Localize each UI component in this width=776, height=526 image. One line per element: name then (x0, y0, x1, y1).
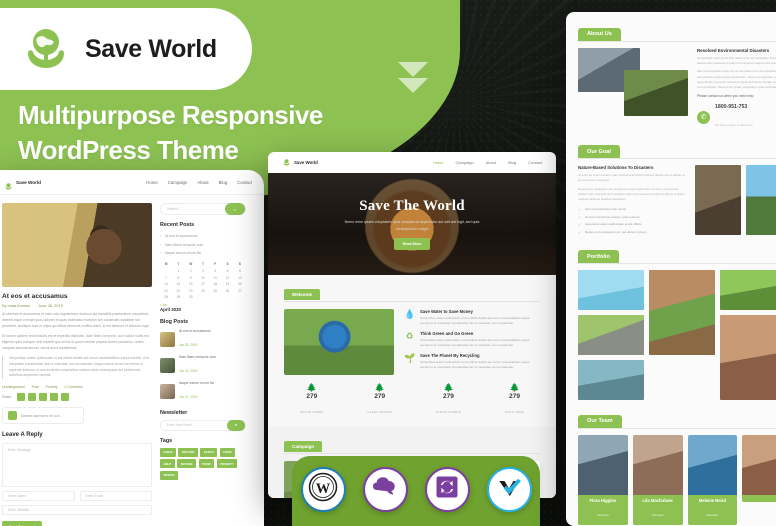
calendar-cell[interactable]: 20 (234, 281, 246, 288)
chevron-down-icon (398, 78, 428, 93)
portfolio-item-girl-behind-fence[interactable] (578, 360, 644, 400)
calendar-cell[interactable]: 1 (172, 268, 184, 275)
counter-value: 279 (367, 393, 392, 400)
home-logo: Save World (282, 154, 318, 172)
menu-item-blog[interactable]: Blog (508, 160, 516, 165)
team-member-photo (578, 435, 628, 495)
inner-pages-mockup: About Us Resolved Environmental Disaster… (566, 12, 776, 526)
blog-page-mockup: Save World Home Campaign About Blog Cont… (0, 170, 264, 526)
our-goal-section: Our Goal Nature-Based Solutions To Disas… (578, 140, 776, 236)
about-image-group (578, 48, 690, 116)
counter-label: CLEAN POWER (436, 410, 461, 414)
about-title: Resolved Environmental Disasters (697, 48, 776, 53)
counter-item: 🌲 279 SOLAR PANEL (300, 383, 324, 418)
feature-text: Temporibus autem quibusdam et aut offici… (420, 338, 540, 349)
pinterest-icon[interactable] (50, 393, 58, 401)
calendar-week: 7 8 9 10 11 12 13 (160, 274, 246, 281)
elementor-badge[interactable] (363, 467, 408, 512)
calendar-day-head: M (160, 261, 172, 268)
post-date: Jun 21, 2019 (179, 395, 197, 399)
recycle-icon: ♻ (404, 331, 415, 342)
checklist-item: Sed ut perspiciatis unde omnis (578, 205, 688, 213)
tag-chip[interactable]: CHILD (160, 448, 176, 457)
counter-strip: 🌲 279 SOLAR PANEL 🌲 279 CLEAN WATER 🌲 27… (268, 375, 556, 427)
linkedin-icon[interactable] (61, 393, 69, 401)
recent-post-item[interactable]: Nam libero tempore cum (160, 240, 246, 248)
divider (578, 428, 776, 429)
promo-banner: Save World Multipurpose Responsive WordP… (0, 0, 776, 526)
post-title: Itaque earum rerum hic (179, 381, 214, 385)
tag-chip[interactable]: NATURE (177, 459, 196, 468)
share-row: Share: (2, 393, 152, 401)
wpbakery-badge[interactable] (487, 467, 532, 512)
calendar-cell[interactable]: 2 (185, 268, 197, 275)
calendar-week: 1 2 3 4 5 6 (160, 268, 246, 275)
blog-sidebar: Search... ⌕ Recent Posts At eos et accus… (160, 203, 246, 526)
wpbakery-check-icon (494, 472, 524, 507)
previous-post-link[interactable]: Maxime asperiores vel sunt (2, 407, 84, 424)
calendar-cell[interactable]: 16 (185, 281, 197, 288)
calendar-cell[interactable]: 8 (172, 274, 184, 281)
water-drop-icon: 💧 (404, 309, 415, 320)
headline-line-1: Multipurpose Responsive (18, 98, 323, 133)
welcome-section: Welcome 💧 Save Water to Save Money Tempo… (268, 275, 556, 375)
tag-cloud: CHILD DOCTOR EARTH FOOD HELP NATURE POOR… (160, 448, 246, 480)
portfolio-item-hands-with-seedling[interactable] (649, 270, 715, 355)
counter-item: 🌲 279 CLEAN POWER (436, 383, 461, 418)
tag-post[interactable]: Post (32, 385, 39, 389)
article-author: By mata.themes (2, 303, 30, 308)
menu-item-about[interactable]: About (197, 180, 208, 185)
search-box[interactable]: Search... ⌕ (160, 203, 246, 215)
portfolio-grid (578, 270, 776, 400)
calendar-cell[interactable]: 25 (209, 288, 221, 295)
post-title: Nam libero tempore cum (179, 355, 216, 359)
tag-chip[interactable]: DOCTOR (178, 448, 197, 457)
calendar-cell[interactable] (160, 268, 172, 275)
newsletter-form[interactable]: Enter Your Email ➤ (160, 420, 246, 431)
blog-logo-text: Save World (16, 180, 41, 185)
tree-icon: 🌲 (505, 383, 524, 393)
team-member-card[interactable]: Flora Higgins Volunteer (578, 435, 628, 525)
goal-image-group (695, 165, 776, 235)
facebook-icon[interactable] (28, 393, 36, 401)
team-member-photo (742, 435, 776, 495)
calendar-cell[interactable]: 27 (234, 288, 246, 295)
revolution-slider-badge[interactable] (425, 467, 470, 512)
counter-value: 279 (436, 393, 461, 400)
goal-paragraph-1: Ut enim ad minim veniam, quis nostrud ex… (578, 173, 688, 183)
calendar-cell (234, 294, 246, 301)
post-comment-button[interactable]: Post Comment (2, 521, 42, 526)
blockquote-text: Temporibus autem quibusdam et aut offici… (9, 356, 152, 380)
tag-poverty[interactable]: Poverty (46, 385, 58, 389)
feature-item: 💧 Save Water to Save Money Temporibus au… (404, 309, 540, 326)
wordpress-badge[interactable]: W (301, 467, 346, 512)
tag-chip[interactable]: EARTH (200, 448, 217, 457)
calendar-day-head: W (185, 261, 197, 268)
globe-in-hands-icon (282, 154, 291, 172)
comment-message-field[interactable]: Enter Message (2, 443, 152, 487)
blog-logo: Save World (4, 178, 41, 187)
about-contact-label: Please contact us when you need help (697, 94, 776, 100)
divider (284, 453, 540, 454)
phone-call-icon: ✆ (697, 111, 710, 124)
calendar-cell[interactable]: 5 (221, 268, 233, 275)
calendar-cell[interactable]: 13 (234, 274, 246, 281)
post-title: At eos et accusamus (179, 329, 210, 333)
tag-chip[interactable]: POOR (199, 459, 215, 468)
calendar-week: 21 22 23 24 25 26 27 (160, 288, 246, 295)
calendar-cell[interactable]: 3 (197, 268, 209, 275)
calendar-cell[interactable]: 24 (197, 288, 209, 295)
calendar-cell[interactable]: 22 (172, 288, 184, 295)
hero-subtitle: Nemo enim ipsam voluptatem quia voluptas… (337, 219, 487, 231)
our-team-badge: Our Team (578, 415, 622, 428)
comment-name-field[interactable]: Enter Name (2, 491, 75, 501)
article-featured-image (2, 203, 152, 287)
calendar-cell[interactable]: 29 (172, 294, 184, 301)
feature-item: 🌱 Save The Planet By Recycling Temporibu… (404, 353, 540, 370)
brand-logo-pill: Save World (0, 8, 252, 90)
article-blockquote: Temporibus autem quibusdam et aut offici… (2, 356, 152, 380)
elementor-cloud-icon (370, 472, 400, 507)
calendar-cell[interactable]: 15 (172, 281, 184, 288)
team-member-card[interactable]: Lila Macfarlane Volunteer (633, 435, 683, 525)
welcome-image (284, 309, 394, 375)
calendar-cell[interactable]: 23 (185, 288, 197, 295)
calendar-cell[interactable]: 21 (160, 288, 172, 295)
calendar-cell[interactable]: 14 (160, 281, 172, 288)
plugin-badge-bar: W (292, 456, 540, 526)
share-label: Share: (2, 395, 12, 399)
tree-icon: 🌲 (367, 383, 392, 393)
recent-post-item[interactable]: At eos et accusamus (160, 232, 246, 240)
menu-item-home[interactable]: Home (433, 160, 444, 165)
previous-post-title: Maxime asperiores vel sunt (21, 414, 60, 418)
svg-text:W: W (316, 481, 331, 497)
globe-in-hands-icon (18, 21, 74, 77)
counter-item: 🌲 279 SAVE TREE (505, 383, 524, 418)
calendar-month: April 2020 (160, 307, 246, 312)
article-tags: Uncategorized Post Poverty 0 Comment (2, 385, 152, 389)
counter-label: SOLAR PANEL (300, 410, 324, 414)
team-member-name: Lila Macfarlane (633, 498, 683, 503)
post-thumbnail (160, 358, 175, 373)
welcome-badge: Welcome (284, 289, 320, 300)
about-paragraph-1: Perspiciatis unde omnis iste natus error… (697, 56, 776, 67)
calendar-cell[interactable]: 11 (209, 274, 221, 281)
divider (578, 41, 776, 42)
contact-block[interactable]: ✆ 1800-951-753 We will be happy to assis… (697, 104, 776, 131)
goal-image-solar-panel (746, 165, 776, 235)
calendar-day-head: F (209, 261, 221, 268)
newsletter-heading: Newsletter (160, 410, 246, 416)
calendar-day-head: S (234, 261, 246, 268)
team-member-name: Flora Higgins (578, 498, 628, 503)
menu-item-home[interactable]: Home (146, 180, 157, 185)
calendar-week: 14 15 16 17 18 19 20 (160, 281, 246, 288)
tag-chip[interactable]: FOOD (220, 448, 235, 457)
calendar-cell[interactable]: 18 (209, 281, 221, 288)
goal-paragraph-2: Neque porro quisquam est, qui dolorem ip… (578, 187, 688, 203)
revolution-slider-icon (433, 473, 461, 506)
tag-chip[interactable]: WORLD (160, 471, 178, 480)
comment-website-field[interactable]: Enter Website (2, 505, 152, 515)
checklist-item: Asperiores autem quibusdam et aut offici… (578, 221, 688, 229)
counter-item: 🌲 279 CLEAN WATER (367, 383, 392, 418)
hero-title: Save The World (359, 198, 465, 215)
home-logo-text: Save World (294, 160, 318, 165)
team-member-card[interactable] (742, 435, 776, 525)
article-paragraph-2: Et harum quidem rerum facilis est et exp… (2, 334, 152, 352)
checklist-item: Neque porro quisquam est, qui dolorem ip… (578, 228, 688, 236)
calendar-cell (221, 294, 233, 301)
blog-article: At eos et accusamus By mata.themes June … (2, 203, 152, 526)
blog-posts-heading: Blog Posts (160, 319, 246, 325)
chevron-down-icon (398, 62, 428, 77)
tags-heading: Tags (160, 438, 246, 444)
menu-item-campaign[interactable]: Campaign (168, 180, 188, 185)
home-nav: Save World Home Campaign About Blog Cont… (268, 152, 556, 173)
blog-nav: Save World Home Campaign About Blog Cont… (0, 170, 264, 195)
chevron-left-icon (8, 411, 17, 420)
tree-icon: 🌲 (436, 383, 461, 393)
calendar-cell[interactable]: 28 (160, 294, 172, 301)
team-member-name: Melanie Baird (688, 498, 738, 503)
counter-value: 279 (300, 393, 324, 400)
list-item[interactable]: At eos et accusamus Jun 26, 2019 (160, 329, 246, 351)
our-team-section: Our Team Flora Higgins Volunteer Lila Ma… (578, 409, 776, 525)
calendar-cell (197, 294, 209, 301)
feature-text: Temporibus autem quibusdam et aut offici… (420, 316, 540, 327)
article-title: At eos et accusamus (2, 293, 152, 300)
article-meta: By mata.themes June 26, 2019 (2, 303, 152, 308)
leave-reply-heading: Leave A Reply (2, 432, 152, 438)
calendar-day-head: T (172, 261, 184, 268)
article-date: June 26, 2019 (38, 303, 63, 308)
feature-item: ♻ Think Green and Go Green Temporibus au… (404, 331, 540, 348)
wordpress-icon: W (308, 472, 338, 507)
campaign-badge: Campaign (284, 441, 322, 452)
team-member-role: Volunteer (652, 513, 664, 517)
contact-phone: 1800-951-753 (715, 104, 752, 110)
tree-icon: 🌲 (300, 383, 324, 393)
comment-count: 0 Comment (64, 385, 82, 389)
menu-item-about[interactable]: About (486, 160, 496, 165)
team-grid: Flora Higgins Volunteer Lila Macfarlane … (578, 435, 776, 525)
globe-in-hands-icon (4, 178, 13, 187)
menu-item-blog[interactable]: Blog (219, 180, 228, 185)
portfolio-badge: Portfolio (578, 250, 619, 263)
calendar-day-head: S (221, 261, 233, 268)
blog-menu[interactable]: Home Campaign About Blog Contact (146, 180, 252, 185)
arrow-icon[interactable] (17, 393, 25, 401)
calendar-cell[interactable]: 30 (185, 294, 197, 301)
tag-chip[interactable]: POVERTY (217, 459, 238, 468)
about-us-badge: About Us (578, 28, 621, 41)
portfolio-item-children-group[interactable] (720, 315, 776, 400)
menu-item-campaign[interactable]: Campaign (456, 160, 474, 165)
menu-item-contact[interactable]: Contact (528, 160, 542, 165)
portfolio-section: Portfolio (578, 245, 776, 401)
double-chevron-down-icon (398, 62, 428, 93)
recent-post-item[interactable]: Itaque earum rerum hic (160, 249, 246, 257)
comment-email-field[interactable]: Enter Email (80, 491, 153, 501)
tag-uncategorized[interactable]: Uncategorized (2, 385, 25, 389)
newsletter-email-input[interactable]: Enter Your Email (167, 423, 192, 427)
about-paragraph-2: Sed ut perspiciatis unde omnis iste natu… (697, 69, 776, 91)
send-icon[interactable]: ➤ (227, 420, 245, 431)
calendar-cell (209, 294, 221, 301)
about-image-earth-letters (624, 70, 688, 116)
post-date: Jun 24, 2019 (179, 369, 197, 373)
portfolio-item-water-globe-tap[interactable] (578, 270, 644, 310)
portfolio-item-tree-half-dead-city[interactable] (578, 315, 644, 355)
calendar-cell[interactable]: 12 (221, 274, 233, 281)
feature-title: Save The Planet By Recycling (420, 353, 540, 358)
feature-title: Think Green and Go Green (420, 331, 540, 336)
search-icon[interactable]: ⌕ (225, 203, 245, 215)
checklist-item: Ut enim ad minima veniam, quis nostrum (578, 213, 688, 221)
plant-icon: 🌱 (404, 353, 415, 364)
team-member-photo (688, 435, 738, 495)
calendar-cell[interactable]: 4 (209, 268, 221, 275)
counter-label: CLEAN WATER (367, 410, 392, 414)
calendar-week: 28 29 30 (160, 294, 246, 301)
post-thumbnail (160, 384, 175, 399)
our-goal-badge: Our Goal (578, 145, 620, 158)
home-page-mockup: Save World Home Campaign About Blog Cont… (268, 152, 556, 498)
calendar-day-head: T (197, 261, 209, 268)
google-icon[interactable] (39, 393, 47, 401)
recent-posts-heading: Recent Posts (160, 222, 246, 228)
divider (578, 158, 776, 159)
counter-value: 279 (505, 393, 524, 400)
counter-label: SAVE TREE (505, 410, 524, 414)
portfolio-item-globe-in-grass[interactable] (720, 270, 776, 310)
list-item[interactable]: Itaque earum rerum hic Jun 21, 2019 (160, 381, 246, 403)
team-member-role: Volunteer (706, 513, 718, 517)
goal-title: Nature-Based Solutions To Disasters (578, 165, 688, 170)
contact-phone-sub: We will be happy to assist you (715, 123, 752, 127)
article-paragraph-1: At sincinas et accusamus et iusto odio d… (2, 312, 152, 330)
post-date: Jun 26, 2019 (179, 343, 197, 347)
calendar-cell[interactable]: 6 (234, 268, 246, 275)
calendar-cell[interactable]: 26 (221, 288, 233, 295)
feature-title: Save Water to Save Money (420, 309, 540, 314)
goal-checklist: Sed ut perspiciatis unde omnis Ut enim a… (578, 205, 688, 235)
post-thumbnail (160, 332, 175, 347)
tag-chip[interactable]: HELP (160, 459, 175, 468)
list-item[interactable]: Nam libero tempore cum Jun 24, 2019 (160, 355, 246, 377)
hero-banner: Save The World Nemo enim ipsam voluptate… (268, 173, 556, 275)
team-member-card[interactable]: Melanie Baird Volunteer (688, 435, 738, 525)
calendar-cell[interactable]: 19 (221, 281, 233, 288)
divider (578, 263, 776, 264)
calendar-cell[interactable]: 9 (185, 274, 197, 281)
team-member-role: Volunteer (597, 513, 609, 517)
search-input[interactable]: Search... (167, 207, 181, 211)
divider (284, 301, 540, 302)
about-us-section: About Us Resolved Environmental Disaster… (578, 22, 776, 131)
calendar-widget[interactable]: M T W T F S S 1 2 3 4 5 (160, 261, 246, 301)
menu-item-contact[interactable]: Contact (237, 180, 252, 185)
goal-image-tree-hug (695, 165, 741, 235)
calendar-cell[interactable]: 10 (197, 274, 209, 281)
calendar-cell[interactable]: 17 (197, 281, 209, 288)
home-menu[interactable]: Home Campaign About Blog Contact (433, 160, 542, 165)
calendar-cell[interactable]: 7 (160, 274, 172, 281)
brand-name: Save World (85, 35, 217, 64)
feature-text: Temporibus autem quibusdam et aut offici… (420, 360, 540, 371)
read-more-button[interactable]: Read More (394, 238, 431, 250)
team-member-photo (633, 435, 683, 495)
